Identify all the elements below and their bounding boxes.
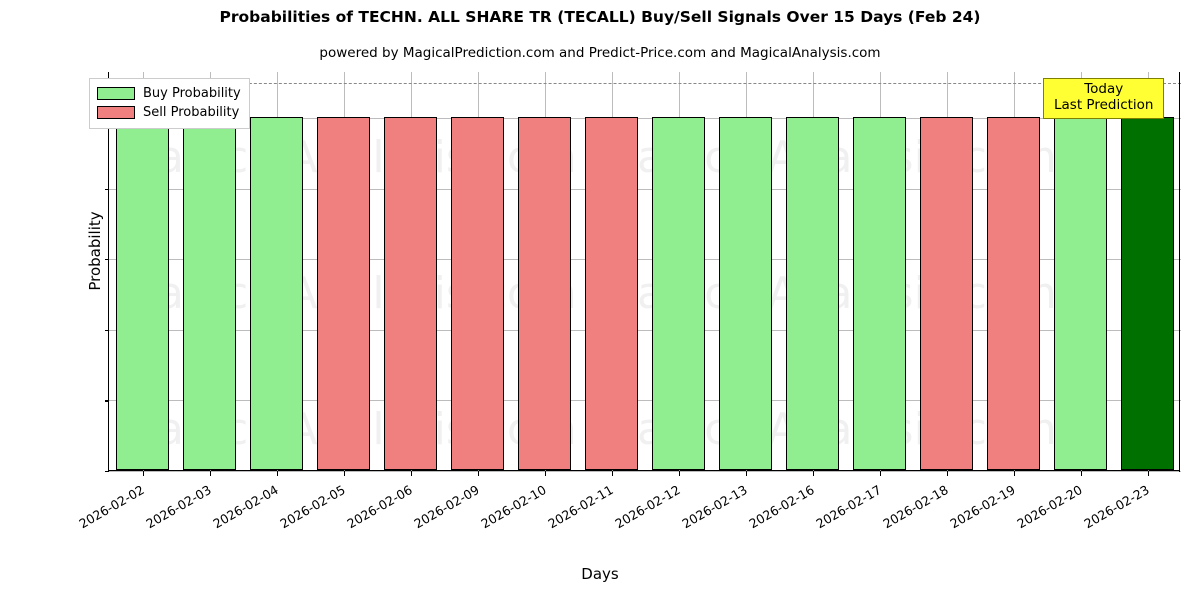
bar-2026-02-11 — [585, 117, 639, 470]
legend-label-sell: Sell Probability — [143, 105, 239, 120]
x-tick-mark — [478, 471, 479, 476]
y-tick-mark — [105, 400, 110, 401]
legend-swatch-sell — [97, 106, 135, 119]
plot-area: MagicalAnalysis.comMagicalAnalysis.comMa… — [108, 72, 1180, 471]
x-tick-mark — [545, 471, 546, 476]
bar-2026-02-13 — [719, 117, 773, 470]
x-tick-mark — [679, 471, 680, 476]
bar-2026-02-23 — [1121, 117, 1175, 470]
bar-2026-02-09 — [451, 117, 505, 470]
x-tick-mark — [210, 471, 211, 476]
bar-2026-02-06 — [384, 117, 438, 470]
today-annotation: Today Last Prediction — [1043, 78, 1164, 119]
x-tick-mark — [813, 471, 814, 476]
bar-2026-02-17 — [853, 117, 907, 470]
x-tick-mark — [143, 471, 144, 476]
chart-subtitle: powered by MagicalPrediction.com and Pre… — [0, 45, 1200, 61]
x-tick-mark — [411, 471, 412, 476]
x-tick-mark — [344, 471, 345, 476]
bar-2026-02-20 — [1054, 117, 1108, 470]
legend-item-sell: Sell Probability — [97, 103, 241, 122]
x-tick-mark — [612, 471, 613, 476]
legend-swatch-buy — [97, 87, 135, 100]
x-axis-label: Days — [0, 565, 1200, 583]
bar-2026-02-16 — [786, 117, 840, 470]
x-tick-mark — [1148, 471, 1149, 476]
bar-2026-02-12 — [652, 117, 706, 470]
bar-2026-02-05 — [317, 117, 371, 470]
x-tick-mark — [1081, 471, 1082, 476]
x-tick-mark — [1014, 471, 1015, 476]
x-tick-mark — [277, 471, 278, 476]
y-axis-label: Probability — [86, 81, 104, 421]
bar-2026-02-18 — [920, 117, 974, 470]
bar-2026-02-19 — [987, 117, 1041, 470]
today-annotation-line1: Today — [1054, 82, 1153, 98]
plot-frame-right — [1179, 72, 1180, 472]
chart-figure: Probabilities of TECHN. ALL SHARE TR (TE… — [0, 0, 1200, 600]
bar-2026-02-02 — [116, 117, 170, 470]
bar-2026-02-03 — [183, 117, 237, 470]
legend-item-buy: Buy Probability — [97, 84, 241, 103]
today-annotation-line2: Last Prediction — [1054, 98, 1153, 114]
bar-2026-02-04 — [250, 117, 304, 470]
reference-line — [109, 83, 1181, 84]
bar-2026-02-10 — [518, 117, 572, 470]
x-tick-mark — [947, 471, 948, 476]
y-tick-mark — [105, 259, 110, 260]
legend-label-buy: Buy Probability — [143, 86, 241, 101]
x-tick-mark — [880, 471, 881, 476]
chart-title: Probabilities of TECHN. ALL SHARE TR (TE… — [0, 8, 1200, 26]
y-tick-mark — [105, 189, 110, 190]
y-tick-mark — [105, 330, 110, 331]
x-tick-mark — [746, 471, 747, 476]
chart-legend: Buy Probability Sell Probability — [89, 78, 250, 129]
y-tick-mark — [105, 471, 110, 472]
gridline-horizontal — [109, 471, 1181, 472]
